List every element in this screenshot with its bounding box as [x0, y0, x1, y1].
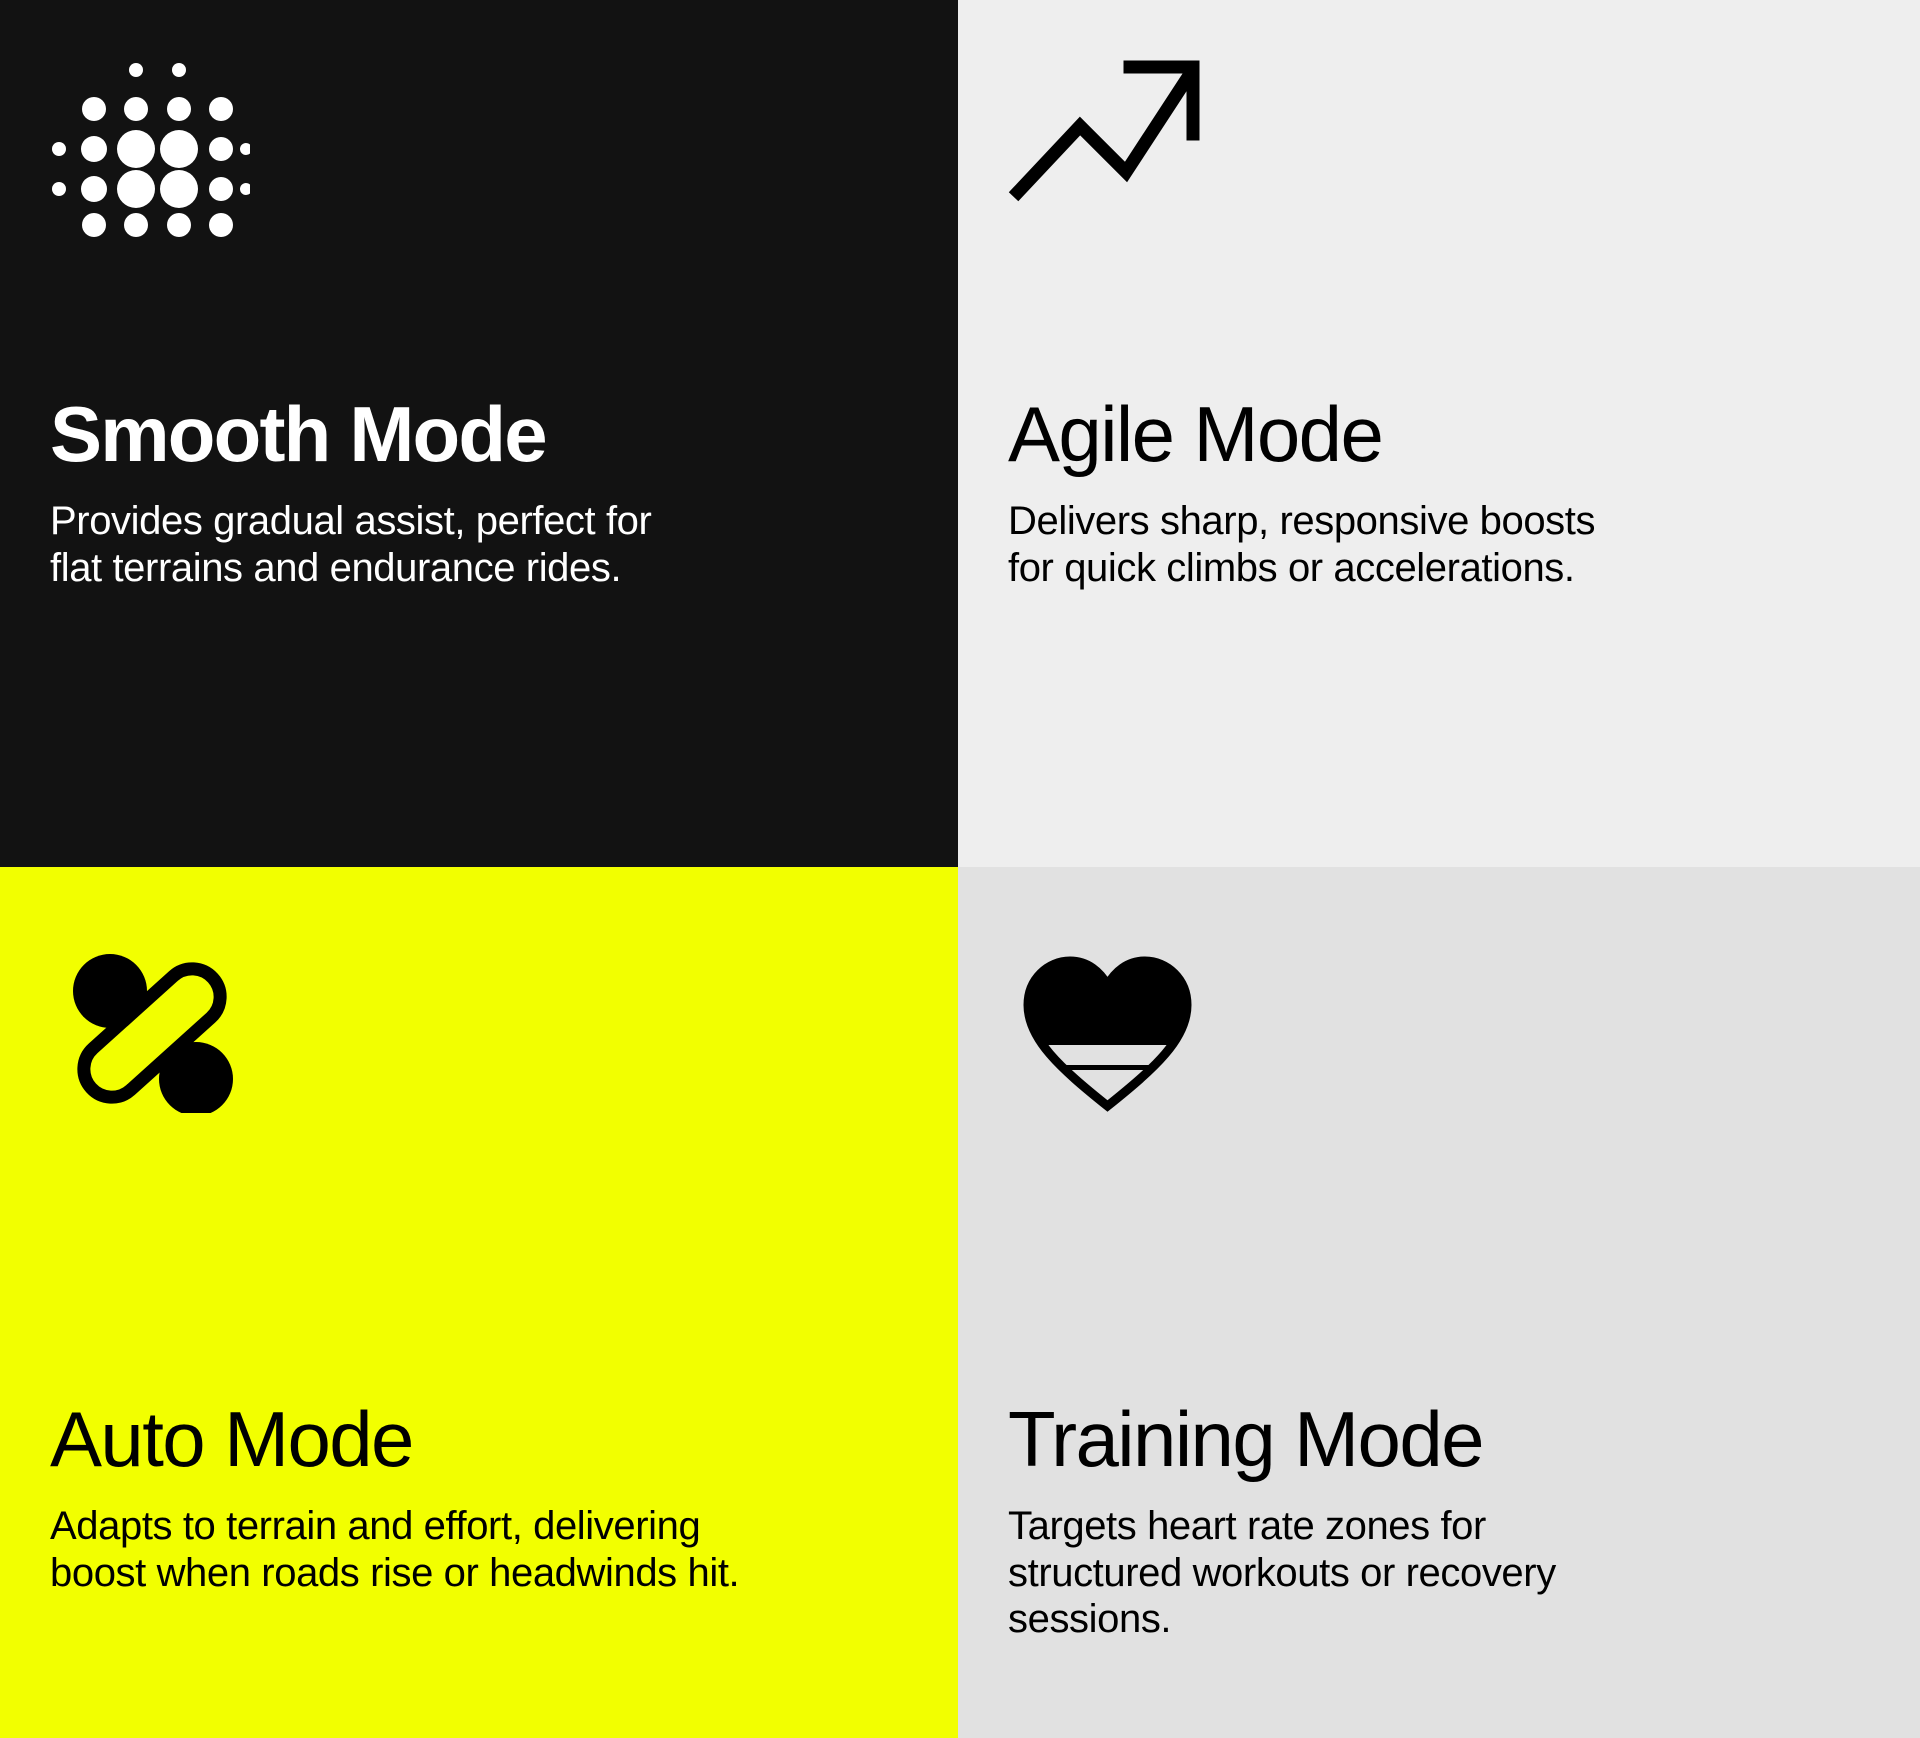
- card-text-training: Training Mode Targets heart rate zones f…: [958, 1401, 1920, 1643]
- card-body-smooth: Provides gradual assist, perfect for fla…: [50, 498, 690, 591]
- card-text-agile: Agile Mode Delivers sharp, responsive bo…: [958, 396, 1920, 591]
- heart-rate-zones-icon: [958, 867, 1920, 1283]
- card-body-training: Targets heart rate zones for structured …: [1008, 1503, 1648, 1642]
- chain-link-icon: [0, 867, 958, 1283]
- card-training-mode[interactable]: Training Mode Targets heart rate zones f…: [958, 867, 1920, 1738]
- card-body-auto: Adapts to terrain and effort, delivering…: [50, 1503, 770, 1596]
- card-title-auto: Auto Mode: [50, 1401, 888, 1477]
- card-smooth-mode[interactable]: Smooth Mode Provides gradual assist, per…: [0, 0, 958, 867]
- card-text-smooth: Smooth Mode Provides gradual assist, per…: [0, 396, 958, 591]
- card-title-agile: Agile Mode: [1008, 396, 1860, 472]
- card-title-training: Training Mode: [1008, 1401, 1850, 1477]
- trending-up-arrow-icon: [958, 0, 1920, 352]
- card-agile-mode[interactable]: Agile Mode Delivers sharp, responsive bo…: [958, 0, 1920, 867]
- card-auto-mode[interactable]: Auto Mode Adapts to terrain and effort, …: [0, 867, 958, 1738]
- card-body-agile: Delivers sharp, responsive boosts for qu…: [1008, 498, 1608, 591]
- mode-cards-grid: Smooth Mode Provides gradual assist, per…: [0, 0, 1920, 1738]
- card-text-auto: Auto Mode Adapts to terrain and effort, …: [0, 1401, 958, 1596]
- card-title-smooth: Smooth Mode: [50, 396, 898, 472]
- dot-grid-icon: [0, 0, 958, 352]
